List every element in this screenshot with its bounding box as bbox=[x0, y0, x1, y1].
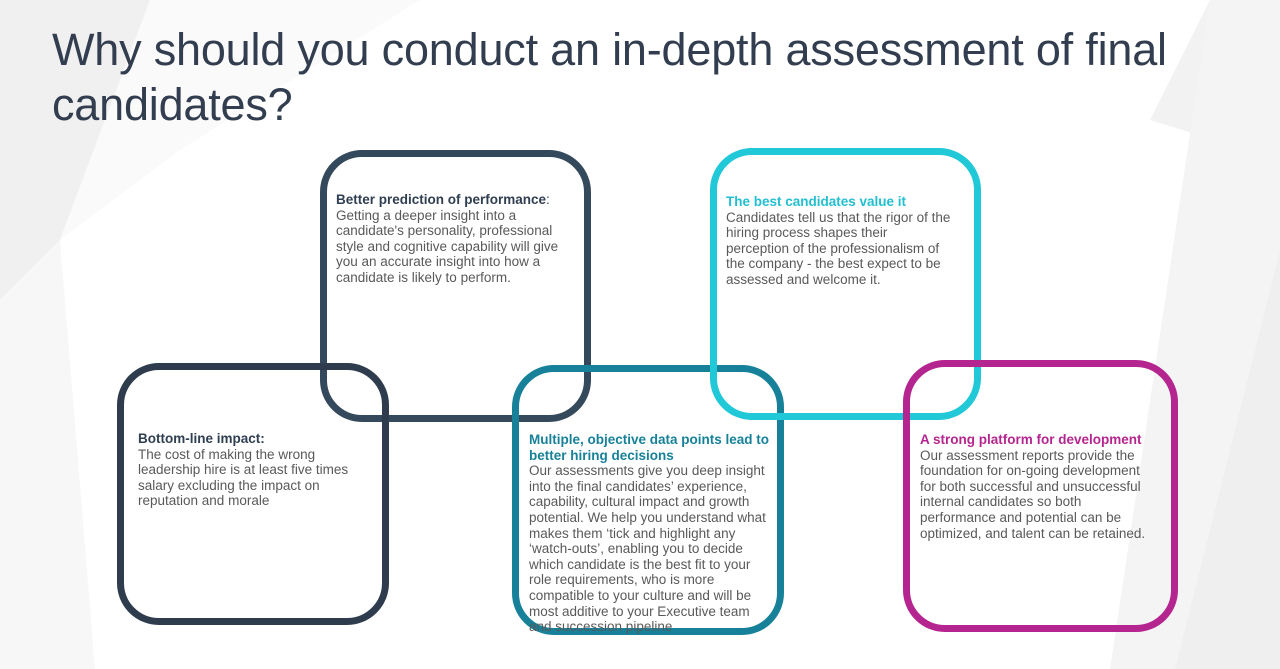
node-text-multiple-data: Multiple, objective data points lead to … bbox=[529, 432, 774, 635]
node-text-better-prediction: Better prediction of performance: Gettin… bbox=[336, 192, 568, 286]
node-heading-best-candidates: The best candidates value it bbox=[726, 194, 954, 210]
node-paragraph-strong-platform: Our assessment reports provide the found… bbox=[920, 448, 1145, 541]
node-heading-multiple-data: Multiple, objective data points lead to … bbox=[529, 432, 774, 463]
node-heading-bottom-line: Bottom-line impact: bbox=[138, 431, 368, 447]
node-heading-better-prediction: Better prediction of performance: bbox=[336, 192, 568, 208]
node-paragraph-better-prediction: Getting a deeper insight into a candidat… bbox=[336, 208, 558, 285]
node-heading-suffix-better-prediction: : bbox=[546, 192, 550, 207]
node-text-bottom-line: Bottom-line impact: The cost of making t… bbox=[138, 431, 368, 509]
node-heading-strong-platform: A strong platform for development bbox=[920, 432, 1152, 448]
node-text-strong-platform: A strong platform for development Our as… bbox=[920, 432, 1152, 541]
node-paragraph-bottom-line: The cost of making the wrong leadership … bbox=[138, 447, 348, 509]
node-paragraph-best-candidates: Candidates tell us that the rigor of the… bbox=[726, 210, 950, 287]
node-paragraph-multiple-data: Our assessments give you deep insight in… bbox=[529, 463, 766, 634]
page-title: Why should you conduct an in-depth asses… bbox=[52, 22, 1232, 132]
node-text-best-candidates: The best candidates value it Candidates … bbox=[726, 194, 954, 288]
